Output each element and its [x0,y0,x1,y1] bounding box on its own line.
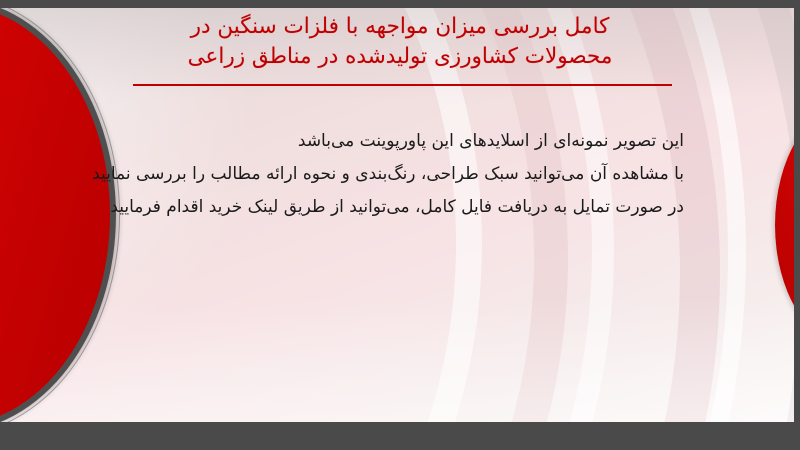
presentation-slide: کامل بررسی میزان مواجهه با فلزات سنگین د… [0,0,800,450]
body-line-2: با مشاهده آن می‌توانید سبک طراحی، رنگ‌بن… [74,158,684,191]
body-line-3: در صورت تمایل به دریافت فایل کامل، می‌تو… [74,191,684,224]
slide-title: کامل بررسی میزان مواجهه با فلزات سنگین د… [120,12,680,72]
slide-body-text: این تصویر نمونه‌ای از اسلایدهای این پاور… [74,125,684,224]
slide-canvas: کامل بررسی میزان مواجهه با فلزات سنگین د… [0,8,794,422]
frame-top-band [0,0,800,8]
title-underline-rule [133,84,672,86]
title-line-1: کامل بررسی میزان مواجهه با فلزات سنگین د… [120,12,680,42]
frame-bottom-band [0,422,800,450]
body-line-1: این تصویر نمونه‌ای از اسلایدهای این پاور… [74,125,684,158]
title-line-2: محصولات کشاورزی تولیدشده در مناطق زراعی [120,42,680,72]
frame-right-band [794,0,800,450]
